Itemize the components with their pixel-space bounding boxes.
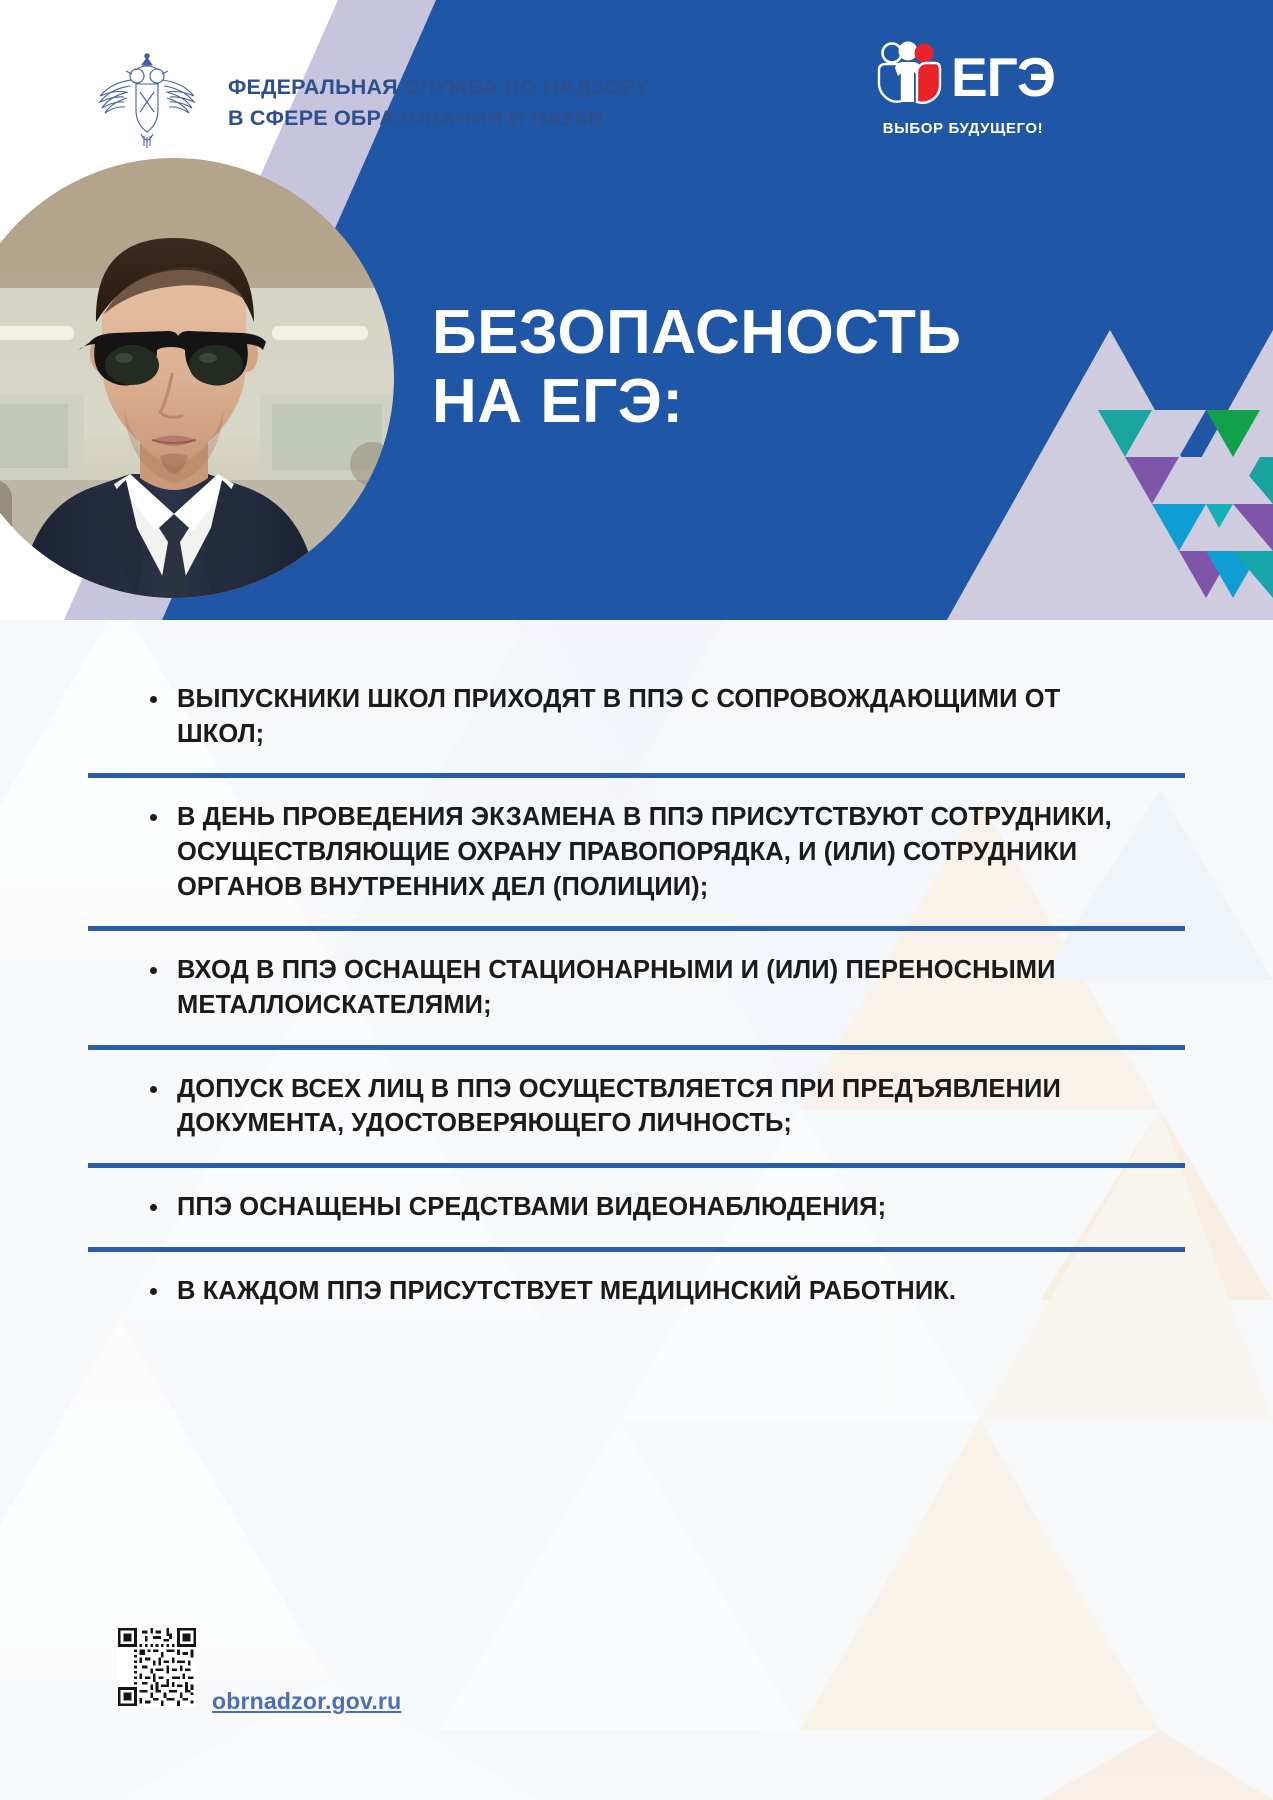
ege-logo: ЕГЭ ВЫБОР БУДУЩЕГО! <box>868 36 1058 146</box>
bullet-dot-icon <box>150 1086 157 1093</box>
coat-of-arms-icon <box>92 52 202 152</box>
footer: obrnadzor.gov.ru <box>0 1610 1273 1800</box>
ministry-name: ФЕДЕРАЛЬНАЯ СЛУЖБА ПО НАДЗОРУ В СФЕРЕ ОБ… <box>228 72 788 133</box>
list-item: ППЭ ОСНАЩЕНЫ СРЕДСТВАМИ ВИДЕОНАБЛЮДЕНИЯ; <box>0 1168 1273 1247</box>
ege-logo-tagline: ВЫБОР БУДУЩЕГО! <box>868 120 1058 137</box>
poster: ФЕДЕРАЛЬНАЯ СЛУЖБА ПО НАДЗОРУ В СФЕРЕ ОБ… <box>0 0 1273 1800</box>
list-item-text: В КАЖДОМ ППЭ ПРИСУТСТВУЕТ МЕДИЦИНСКИЙ РА… <box>177 1274 956 1309</box>
bullet-dot-icon <box>150 696 157 703</box>
ministry-line-1: ФЕДЕРАЛЬНАЯ СЛУЖБА ПО НАДЗОРУ <box>228 72 788 103</box>
avatar <box>0 158 394 598</box>
bullet-dot-icon <box>150 814 157 821</box>
list-item: ДОПУСК ВСЕХ ЛИЦ В ППЭ ОСУЩЕСТВЛЯЕТСЯ ПРИ… <box>0 1050 1273 1163</box>
bullet-list: ВЫПУСКНИКИ ШКОЛ ПРИХОДЯТ В ППЭ С СОПРОВО… <box>0 660 1273 1330</box>
three-people-emblem-icon <box>871 40 945 114</box>
list-item-text: ДОПУСК ВСЕХ ЛИЦ В ППЭ ОСУЩЕСТВЛЯЕТСЯ ПРИ… <box>177 1072 1153 1141</box>
bullet-dot-icon <box>150 1204 157 1211</box>
bullet-dot-icon <box>150 967 157 974</box>
list-item-text: ППЭ ОСНАЩЕНЫ СРЕДСТВАМИ ВИДЕОНАБЛЮДЕНИЯ; <box>177 1190 886 1225</box>
ministry-line-2: В СФЕРЕ ОБРАЗОВАНИЯ И НАУКИ <box>228 103 788 134</box>
page-title-line-1: БЕЗОПАСНОСТЬ <box>432 298 1072 367</box>
bullet-dot-icon <box>150 1288 157 1295</box>
list-item: ВХОД В ППЭ ОСНАЩЕН СТАЦИОНАРНЫМИ И (ИЛИ)… <box>0 931 1273 1044</box>
list-item-text: ВХОД В ППЭ ОСНАЩЕН СТАЦИОНАРНЫМИ И (ИЛИ)… <box>177 953 1153 1022</box>
list-item: ВЫПУСКНИКИ ШКОЛ ПРИХОДЯТ В ППЭ С СОПРОВО… <box>0 660 1273 773</box>
website-link[interactable]: obrnadzor.gov.ru <box>212 1688 401 1715</box>
security-guard-photo <box>0 158 394 598</box>
page-title: БЕЗОПАСНОСТЬ НА ЕГЭ: <box>432 298 1072 437</box>
ege-logo-word: ЕГЭ <box>951 50 1055 105</box>
list-item-text: В ДЕНЬ ПРОВЕДЕНИЯ ЭКЗАМЕНА В ППЭ ПРИСУТС… <box>177 800 1153 904</box>
qr-code-icon[interactable] <box>118 1628 196 1706</box>
list-item: В ДЕНЬ ПРОВЕДЕНИЯ ЭКЗАМЕНА В ППЭ ПРИСУТС… <box>0 778 1273 926</box>
header: ФЕДЕРАЛЬНАЯ СЛУЖБА ПО НАДЗОРУ В СФЕРЕ ОБ… <box>0 0 1273 620</box>
page-title-line-2: НА ЕГЭ: <box>432 367 1072 436</box>
list-item-text: ВЫПУСКНИКИ ШКОЛ ПРИХОДЯТ В ППЭ С СОПРОВО… <box>177 682 1153 751</box>
list-item: В КАЖДОМ ППЭ ПРИСУТСТВУЕТ МЕДИЦИНСКИЙ РА… <box>0 1252 1273 1331</box>
